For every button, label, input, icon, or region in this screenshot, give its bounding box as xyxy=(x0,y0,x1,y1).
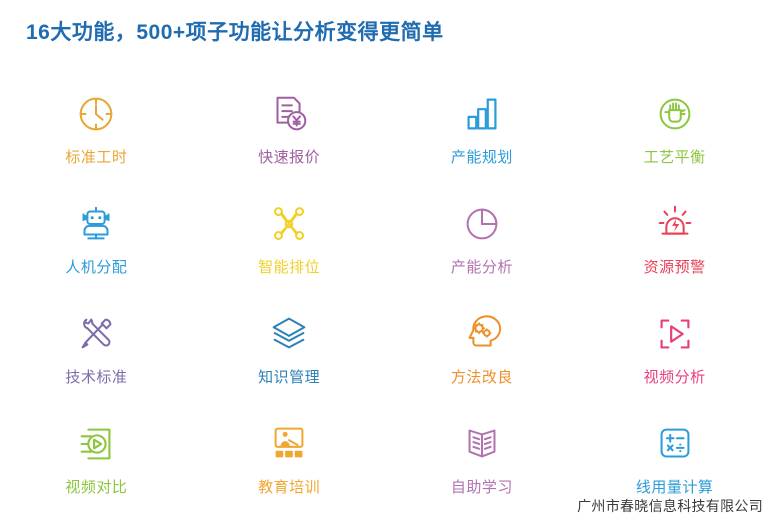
feature-item-clock[interactable]: 标准工时 xyxy=(0,86,193,196)
document-yen-icon xyxy=(260,86,318,142)
feature-item-line-balance[interactable]: 工艺平衡 xyxy=(578,86,771,196)
feature-label: 方法改良 xyxy=(451,370,513,385)
company-watermark: 广州市春晓信息科技有限公司 xyxy=(577,496,763,516)
feature-item-tech-standard[interactable]: 技术标准 xyxy=(0,306,193,416)
page-title: 16大功能，500+项子功能让分析变得更简单 xyxy=(26,16,444,46)
classroom-icon xyxy=(260,416,318,472)
feature-item-capacity-analysis[interactable]: 产能分析 xyxy=(386,196,579,306)
feature-label: 快速报价 xyxy=(258,150,320,165)
feature-label: 知识管理 xyxy=(258,370,320,385)
feature-item-knowledge[interactable]: 知识管理 xyxy=(193,306,386,416)
video-scan-icon xyxy=(646,306,704,362)
feature-item-video-compare[interactable]: 视频对比 xyxy=(0,416,193,526)
feature-label: 视频对比 xyxy=(65,480,127,495)
feature-item-method-improve[interactable]: 方法改良 xyxy=(386,306,579,416)
feature-grid-page: 16大功能，500+项子功能让分析变得更简单 标准工时 xyxy=(0,0,771,522)
wrench-hammer-icon xyxy=(67,306,125,362)
video-compare-icon xyxy=(67,416,125,472)
feature-item-smart-layout[interactable]: 智能排位 xyxy=(193,196,386,306)
feature-label: 人机分配 xyxy=(65,260,127,275)
feature-label: 视频分析 xyxy=(644,370,706,385)
calculator-icon xyxy=(646,416,704,472)
layers-icon xyxy=(260,306,318,362)
feature-label: 工艺平衡 xyxy=(644,150,706,165)
feature-item-training[interactable]: 教育培训 xyxy=(193,416,386,526)
bar-chart-icon xyxy=(453,86,511,142)
feature-label: 产能规划 xyxy=(451,150,513,165)
alarm-siren-icon xyxy=(646,196,704,252)
feature-label: 技术标准 xyxy=(65,370,127,385)
feature-item-video-analysis[interactable]: 视频分析 xyxy=(578,306,771,416)
feature-item-quotation[interactable]: 快速报价 xyxy=(193,86,386,196)
head-gears-icon xyxy=(453,306,511,362)
open-book-icon xyxy=(453,416,511,472)
pie-chart-icon xyxy=(453,196,511,252)
feature-grid: 标准工时 快速报价 xyxy=(0,86,771,526)
feature-item-self-learning[interactable]: 自助学习 xyxy=(386,416,579,526)
feature-label: 智能排位 xyxy=(258,260,320,275)
feature-label: 标准工时 xyxy=(65,150,127,165)
feature-label: 教育培训 xyxy=(258,480,320,495)
clock-icon xyxy=(67,86,125,142)
robot-icon xyxy=(67,196,125,252)
feature-label: 产能分析 xyxy=(451,260,513,275)
feature-label: 自助学习 xyxy=(451,480,513,495)
fist-circle-icon xyxy=(646,86,704,142)
feature-item-man-machine[interactable]: 人机分配 xyxy=(0,196,193,306)
feature-label: 资源预警 xyxy=(644,260,706,275)
feature-item-capacity-planning[interactable]: 产能规划 xyxy=(386,86,579,196)
network-nodes-icon xyxy=(260,196,318,252)
feature-label: 线用量计算 xyxy=(636,480,714,495)
feature-item-resource-alert[interactable]: 资源预警 xyxy=(578,196,771,306)
